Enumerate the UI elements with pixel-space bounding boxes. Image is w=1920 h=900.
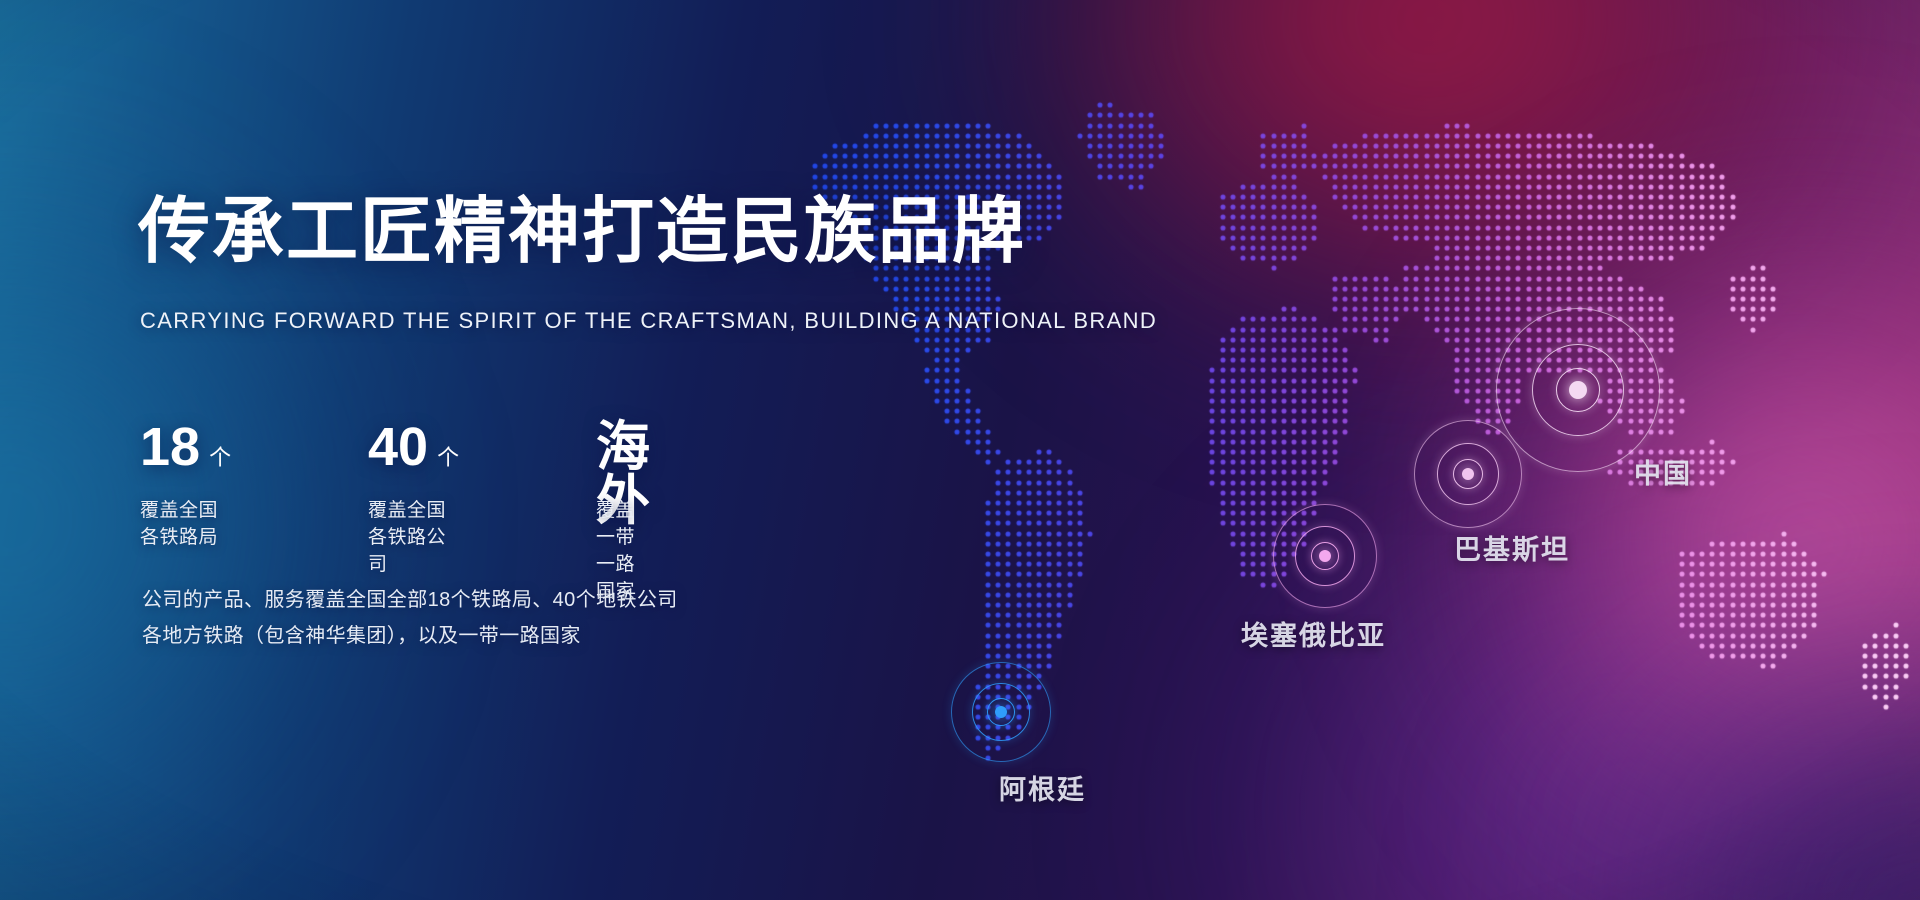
banner-hero: 中国巴基斯坦埃塞俄比亚阿根廷 传承工匠精神打造民族品牌 CARRYING FOR…	[0, 0, 1920, 900]
page-title: 传承工匠精神打造民族品牌	[138, 196, 1026, 268]
body-paragraph: 公司的产品、服务覆盖全国全部18个铁路局、40个地铁公司各地方铁路（包含神华集团…	[142, 582, 678, 654]
map-marker-label: 阿根廷	[999, 768, 1086, 807]
page-subtitle: CARRYING FORWARD THE SPIRIT OF THE CRAFT…	[140, 308, 1157, 334]
stat-description: 覆盖全国各铁路局	[140, 495, 231, 549]
stat-description: 覆盖全国各铁路公司	[368, 495, 459, 576]
stat-unit: 个	[209, 447, 231, 469]
stat-unit: 个	[437, 447, 459, 469]
marker-core-icon	[995, 706, 1007, 718]
marker-core-icon	[1569, 381, 1587, 399]
stat-number: 18	[140, 420, 200, 474]
marker-core-icon	[1462, 468, 1474, 480]
map-marker-label: 巴基斯坦	[1454, 528, 1570, 567]
map-marker-label: 埃塞俄比亚	[1241, 614, 1386, 653]
stat-number: 40	[368, 420, 428, 474]
stat-item: 18个覆盖全国各铁路局	[140, 420, 231, 549]
stat-item: 海外覆盖一带一路国家	[596, 420, 650, 603]
stat-item: 40个覆盖全国各铁路公司	[368, 420, 459, 576]
body-line: 公司的产品、服务覆盖全国全部18个铁路局、40个地铁公司	[142, 582, 678, 618]
marker-core-icon	[1319, 550, 1331, 562]
map-marker-label: 中国	[1634, 452, 1692, 491]
body-line: 各地方铁路（包含神华集团），以及一带一路国家	[142, 618, 678, 654]
